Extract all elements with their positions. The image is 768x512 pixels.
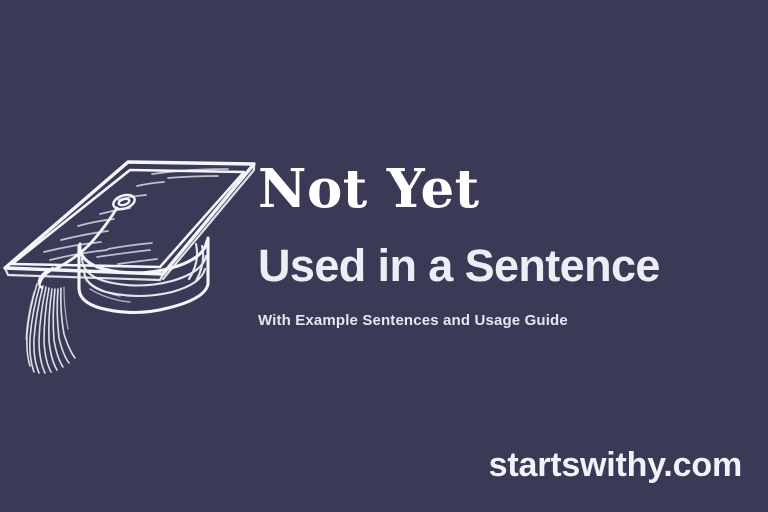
page-subtitle: With Example Sentences and Usage Guide (258, 311, 758, 331)
hero-banner: Not Yet Used in a Sentence With Example … (0, 0, 768, 512)
brand-watermark: startswithy.com (489, 446, 742, 484)
eyebrow-title: Not Yet (258, 160, 758, 218)
hero-text-block: Not Yet Used in a Sentence With Example … (258, 160, 758, 331)
graduation-cap-sketch-icon (0, 140, 270, 370)
page-title: Used in a Sentence (258, 240, 758, 292)
